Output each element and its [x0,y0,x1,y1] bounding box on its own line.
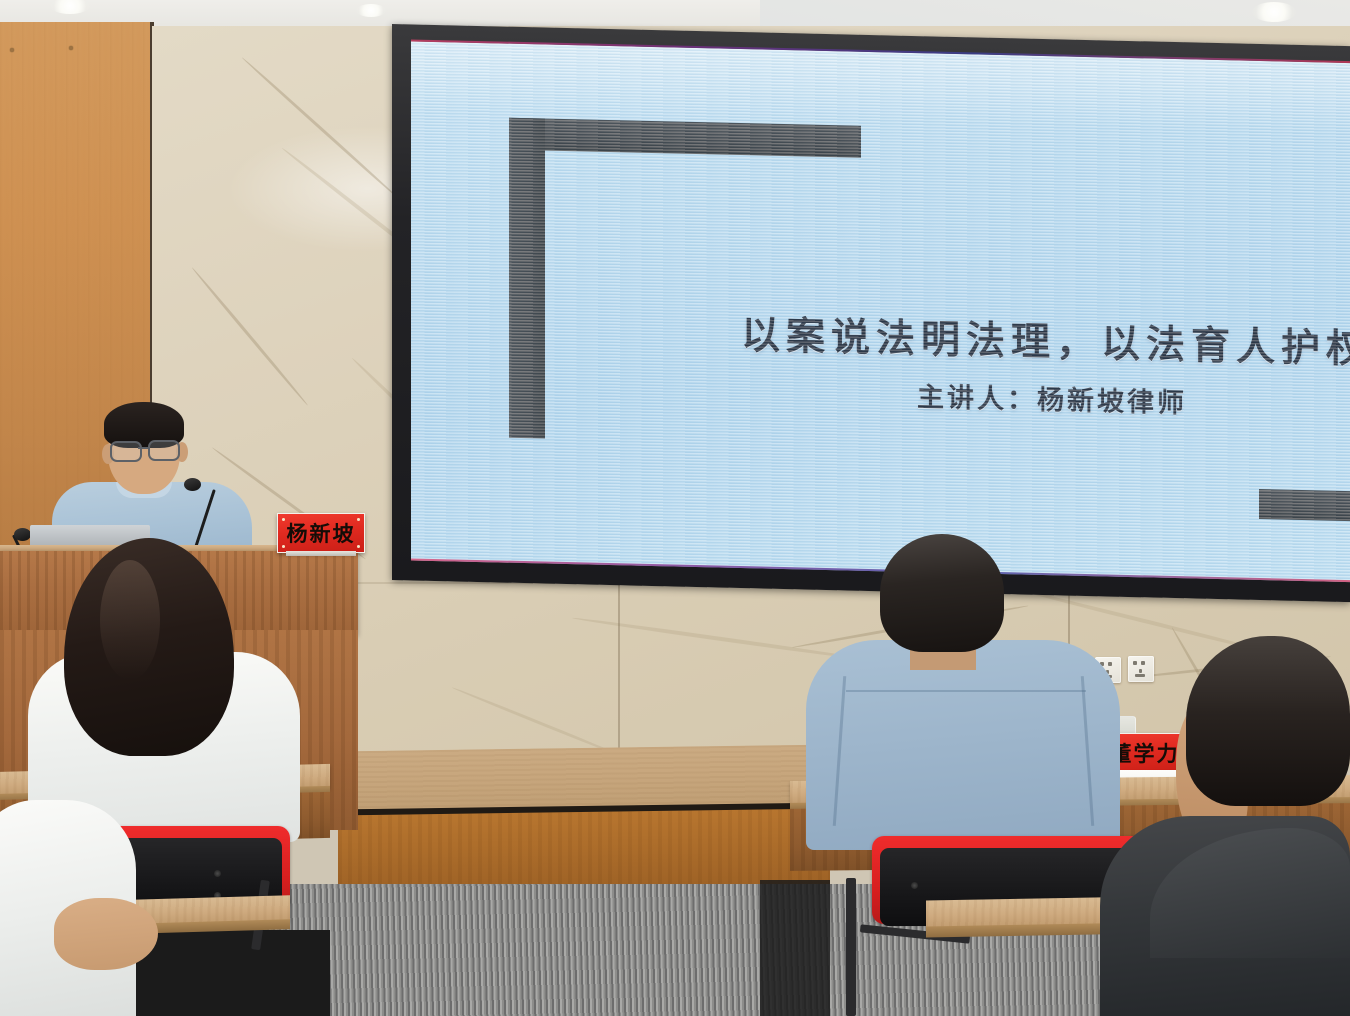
eyeglasses-bridge [138,447,150,449]
floor-shadow [760,880,830,1016]
projection-screen[interactable]: 以案说法明法理，以法育人护权益 主讲人：杨新坡律师 [392,24,1350,602]
nameplate-attendee-text: 董学力 [1111,738,1180,768]
attendee-hair [1186,636,1350,806]
attendee-arm [54,898,158,970]
hair-highlight [100,560,160,680]
nameplate-stand [286,551,356,556]
attendee-torso [806,640,1120,850]
nameplate-speaker: 杨新坡 [277,513,365,553]
eyeglasses-icon [110,441,142,462]
chair-rivet [214,870,221,877]
stage-riser-top [338,745,830,812]
downlight-icon [1252,2,1296,22]
wall-socket[interactable] [1128,656,1154,682]
led-scanlines [411,41,1350,582]
panel-screw [69,46,73,50]
eyeglasses-icon [148,440,180,461]
slide-canvas: 以案说法明法理，以法育人护权益 主讲人：杨新坡律师 [411,41,1350,582]
stage-riser-face [338,809,830,894]
attendee-hair [880,534,1004,652]
chair-rivet [911,882,918,889]
microphone-head-icon [184,478,201,491]
panel-screw [10,48,14,52]
lecture-hall-scene: 以案说法明法理，以法育人护权益 主讲人：杨新坡律师 杨新坡 [0,0,1350,1016]
microphone-head-icon [14,528,31,541]
downlight-icon [356,4,386,17]
chair-leg [846,878,856,1016]
nameplate-speaker-text: 杨新坡 [287,518,356,548]
shirt-yoke-seam [846,690,1086,692]
